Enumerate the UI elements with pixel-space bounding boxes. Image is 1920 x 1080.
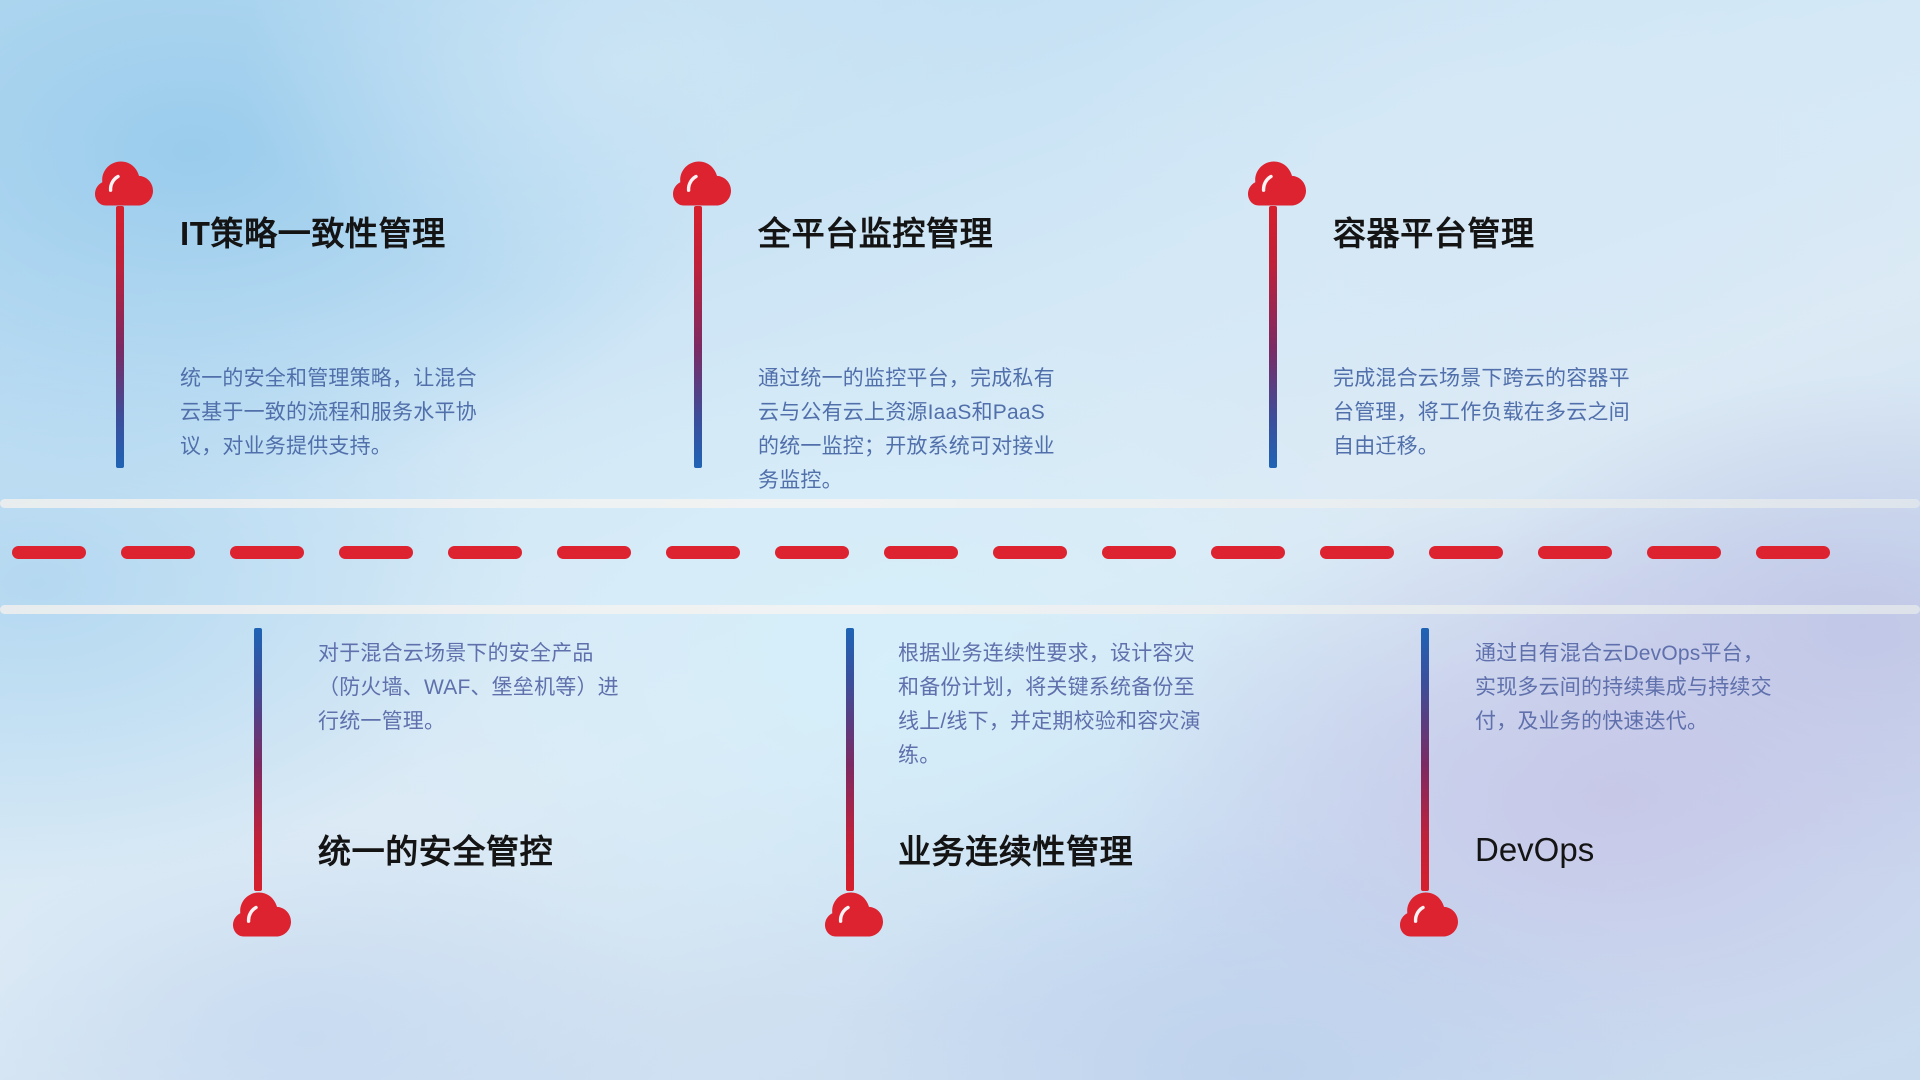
top-stem-2 xyxy=(694,206,702,468)
bottom-pin-1 xyxy=(233,628,293,937)
road-dash-segment xyxy=(1429,546,1503,559)
road-dash-segment xyxy=(1647,546,1721,559)
top-pin-2 xyxy=(673,160,733,468)
road-dash-segment xyxy=(230,546,304,559)
road-dash-segment xyxy=(448,546,522,559)
top-body-1: 统一的安全和管理策略，让混合云基于一致的流程和服务水平协议，对业务提供支持。 xyxy=(180,362,485,464)
road-dash-segment xyxy=(884,546,958,559)
road-dash-segment xyxy=(1756,546,1830,559)
bottom-stem-2 xyxy=(846,628,854,891)
road-dash-segment xyxy=(1538,546,1612,559)
road-edge-bottom xyxy=(0,605,1920,614)
bottom-heading-2: 业务连续性管理 xyxy=(898,832,1133,872)
cloud-icon xyxy=(825,891,885,937)
road-dash-segment xyxy=(557,546,631,559)
road-dash-segment xyxy=(993,546,1067,559)
cloud-icon xyxy=(673,160,733,206)
bottom-heading-1: 统一的安全管控 xyxy=(318,832,553,872)
cloud-icon xyxy=(1400,891,1460,937)
bottom-pin-2 xyxy=(825,628,885,937)
road-dash-segment xyxy=(121,546,195,559)
bottom-heading-3: DevOps xyxy=(1475,830,1594,870)
road-dash-segment xyxy=(1320,546,1394,559)
top-body-2: 通过统一的监控平台，完成私有云与公有云上资源IaaS和PaaS的统一监控；开放系… xyxy=(758,362,1063,498)
cloud-icon xyxy=(233,891,293,937)
top-body-3: 完成混合云场景下跨云的容器平台管理，将工作负载在多云之间自由迁移。 xyxy=(1333,362,1638,464)
road-dashed-line xyxy=(0,546,1920,559)
top-stem-3 xyxy=(1269,206,1277,468)
top-pin-1 xyxy=(95,160,155,468)
road-edge-top xyxy=(0,499,1920,508)
road-dash-segment xyxy=(775,546,849,559)
cloud-icon xyxy=(1248,160,1308,206)
bottom-body-2: 根据业务连续性要求，设计容灾和备份计划，将关键系统备份至线上/线下，并定期校验和… xyxy=(898,637,1203,773)
road-dash-segment xyxy=(12,546,86,559)
bottom-pin-3 xyxy=(1400,628,1460,937)
road-dash-segment xyxy=(339,546,413,559)
top-stem-1 xyxy=(116,206,124,468)
top-heading-3: 容器平台管理 xyxy=(1333,214,1535,254)
top-heading-1: IT策略一致性管理 xyxy=(180,214,446,254)
top-heading-2: 全平台监控管理 xyxy=(758,214,993,254)
top-pin-3 xyxy=(1248,160,1308,468)
infographic-canvas: IT策略一致性管理 统一的安全和管理策略，让混合云基于一致的流程和服务水平协议，… xyxy=(0,0,1920,1080)
road-dash-segment xyxy=(1211,546,1285,559)
cloud-icon xyxy=(95,160,155,206)
road-dash-segment xyxy=(1102,546,1176,559)
bottom-stem-3 xyxy=(1421,628,1429,891)
bottom-body-3: 通过自有混合云DevOps平台，实现多云间的持续集成与持续交付，及业务的快速迭代… xyxy=(1475,637,1780,739)
road-dash-segment xyxy=(666,546,740,559)
bottom-body-1: 对于混合云场景下的安全产品（防火墙、WAF、堡垒机等）进行统一管理。 xyxy=(318,637,623,739)
bottom-stem-1 xyxy=(254,628,262,891)
